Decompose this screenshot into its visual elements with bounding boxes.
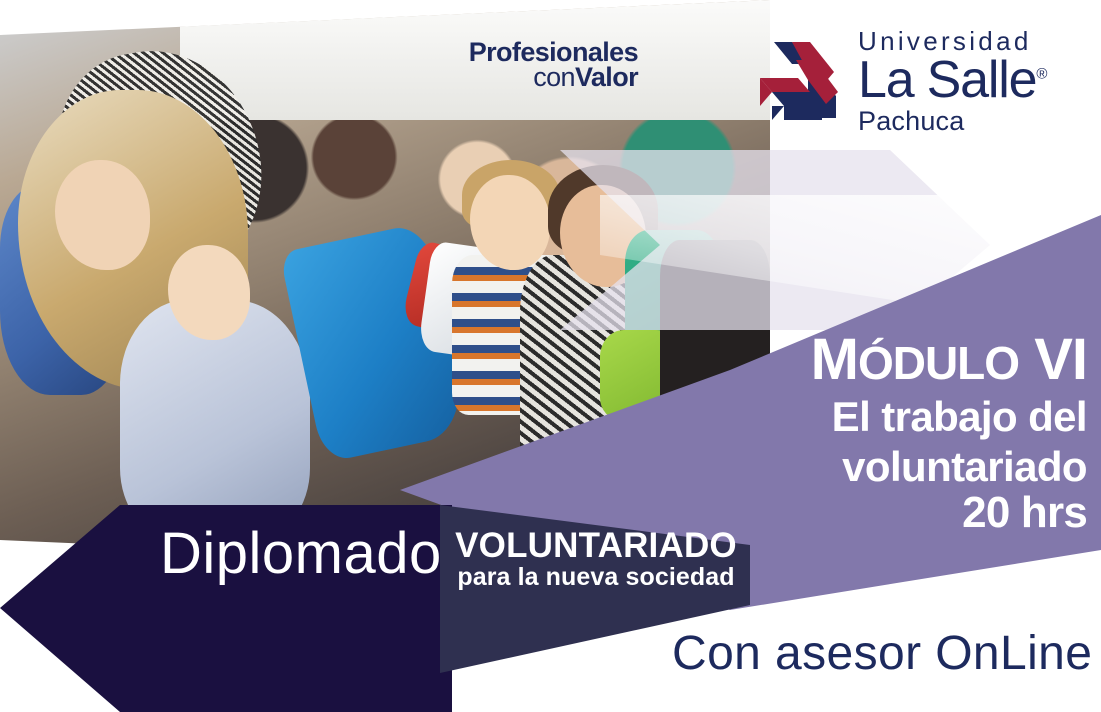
university-logo: Universidad La Salle® Pachuca — [752, 28, 1082, 153]
registered-mark-icon: ® — [1036, 66, 1047, 83]
logo-wordmark: Universidad La Salle® Pachuca — [858, 28, 1082, 135]
tagline-con: con — [533, 62, 575, 92]
logo-lasalle-text: La Salle® — [858, 55, 1082, 106]
logo-campus-text: Pachuca — [858, 108, 1082, 135]
logo-lasalle-name: La Salle — [858, 51, 1036, 109]
program-title-block: VOLUNTARIADO para la nueva sociedad — [446, 528, 746, 590]
module-title: MÓDULO VI — [667, 332, 1087, 389]
program-title: VOLUNTARIADO — [446, 528, 746, 564]
promotional-banner: Profesionales conValor Universidad La Sa… — [0, 0, 1101, 712]
module-subtitle-line-2: voluntariado — [667, 445, 1087, 489]
program-subtitle: para la nueva sociedad — [446, 565, 746, 591]
module-subtitle-line-1: El trabajo del — [667, 395, 1087, 439]
module-title-smallcaps: ÓDULO — [858, 337, 1019, 389]
tagline-valor: Valor — [575, 62, 638, 92]
module-info-block: MÓDULO VI El trabajo del voluntariado 20… — [667, 332, 1087, 536]
brand-tagline: Profesionales conValor — [418, 40, 638, 90]
la-salle-chevron-knot-icon — [752, 34, 852, 134]
module-title-cap: M — [811, 327, 858, 392]
online-advisor-note: Con asesor OnLine — [672, 630, 1092, 678]
tagline-line-2: conValor — [418, 65, 638, 90]
module-number: VI — [1034, 327, 1087, 392]
program-type-label: Diplomado — [160, 525, 442, 583]
